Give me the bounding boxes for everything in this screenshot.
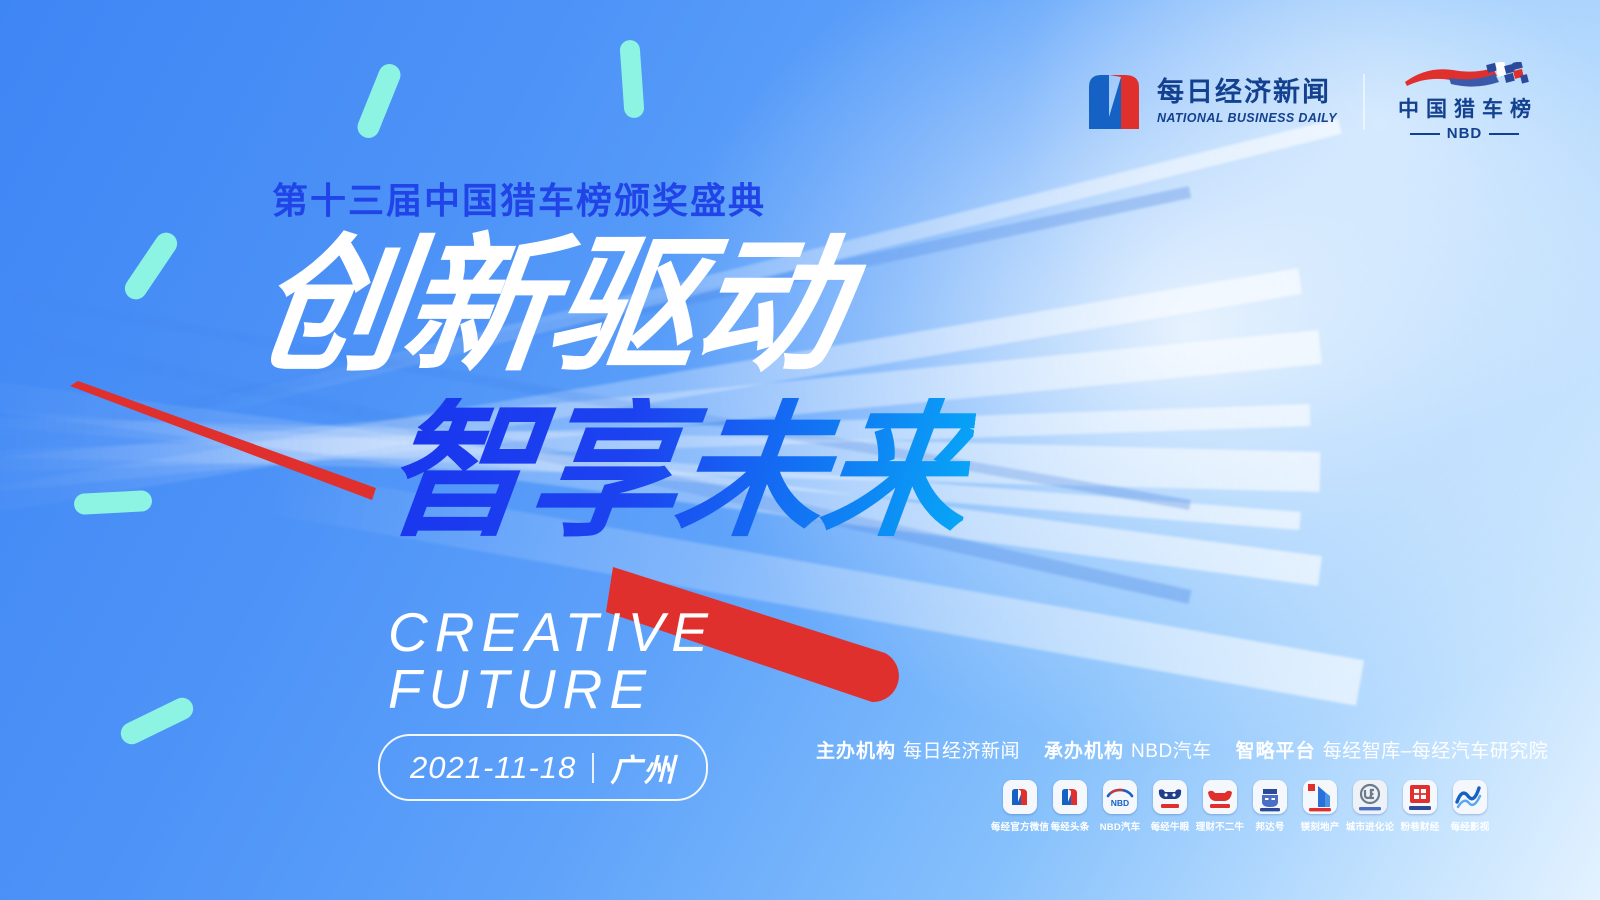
credit-group: 主办机构每日经济新闻 xyxy=(816,736,1020,763)
credit-name: 每经智库–每经汽车研究院 xyxy=(1323,736,1549,763)
nbd-n-mark-icon xyxy=(1085,71,1145,133)
app-label: 每经牛眼 xyxy=(1151,819,1190,833)
app-icon-strip: 每经官方微信每经头条NBDNBD汽车每经牛眼理财不二牛邦达号镁刻地产城市进化论粉… xyxy=(1000,780,1490,833)
building-app-icon xyxy=(1303,780,1337,814)
racing-flag-swoosh-icon xyxy=(1401,62,1529,92)
credit-name: NBD汽车 xyxy=(1131,736,1212,763)
nbd-chinese-name: 每日经济新闻 xyxy=(1157,79,1337,106)
app-entry[interactable]: 城市进化论 xyxy=(1350,780,1390,833)
red-bull-app-icon xyxy=(1203,780,1237,814)
event-city: 广州 xyxy=(610,745,676,790)
rule-left xyxy=(1410,133,1440,135)
lieche-abbr-row: NBD xyxy=(1410,125,1520,142)
english-subtitle-line-2: FUTURE xyxy=(388,661,715,718)
credit-group: 智略平台每经智库–每经汽车研究院 xyxy=(1236,736,1549,763)
nbd-english-name: NATIONAL BUSINESS DAILY xyxy=(1157,112,1337,125)
event-date-badge: 2021-11-18 广州 xyxy=(378,734,708,801)
wave-app-icon xyxy=(1453,780,1487,814)
lieche-chinese-name: 中国猎车榜 xyxy=(1391,93,1538,123)
credit-role: 智略平台 xyxy=(1236,736,1316,763)
logo-divider xyxy=(1363,74,1365,130)
english-subtitle-line-1: CREATIVE xyxy=(388,604,715,661)
app-entry[interactable]: 理财不二牛 xyxy=(1200,780,1240,833)
credit-role: 承办机构 xyxy=(1044,736,1124,763)
badge-separator xyxy=(592,753,594,783)
app-label: 每经官方微信 xyxy=(991,819,1049,833)
app-label: NBD汽车 xyxy=(1100,819,1141,833)
app-label: 镁刻地产 xyxy=(1301,819,1340,833)
lieche-abbr: NBD xyxy=(1447,125,1483,142)
credit-group: 承办机构NBD汽车 xyxy=(1044,736,1212,763)
header-logos: 每日经济新闻 NATIONAL BUSINESS DAILY 中国猎车榜 xyxy=(1085,62,1538,142)
app-label: 每经头条 xyxy=(1051,819,1090,833)
svg-text:NBD: NBD xyxy=(1111,798,1129,808)
bull-head-app-icon xyxy=(1153,780,1187,814)
app-entry[interactable]: 每经官方微信 xyxy=(1000,780,1040,833)
ue-circle-app-icon xyxy=(1353,780,1387,814)
app-entry[interactable]: 每经头条 xyxy=(1050,780,1090,833)
app-entry[interactable]: NBDNBD汽车 xyxy=(1100,780,1140,833)
window-app-icon xyxy=(1403,780,1437,814)
app-label: 城市进化论 xyxy=(1346,819,1395,833)
credit-role: 主办机构 xyxy=(816,736,896,763)
nbd-n-app-icon xyxy=(1053,780,1087,814)
headline-line-1: 创新驱动 xyxy=(249,233,851,381)
nbd-logo[interactable]: 每日经济新闻 NATIONAL BUSINESS DAILY xyxy=(1085,71,1337,133)
app-entry[interactable]: 粉巷财经 xyxy=(1400,780,1440,833)
headline-line-2: 智享未来 xyxy=(376,398,978,546)
app-entry[interactable]: 镁刻地产 xyxy=(1300,780,1340,833)
event-date: 2021-11-18 xyxy=(410,750,576,786)
rule-right xyxy=(1489,133,1519,135)
app-label: 理财不二牛 xyxy=(1196,819,1245,833)
nbd-n-app-icon xyxy=(1003,780,1037,814)
app-entry[interactable]: 邦达号 xyxy=(1250,780,1290,833)
app-entry[interactable]: 每经影视 xyxy=(1450,780,1490,833)
event-eyebrow-title: 第十三届中国猎车榜颁奖盛典 xyxy=(272,172,766,224)
app-label: 粉巷财经 xyxy=(1401,819,1440,833)
app-label: 邦达号 xyxy=(1255,819,1284,833)
event-poster: 每日经济新闻 NATIONAL BUSINESS DAILY 中国猎车榜 xyxy=(0,0,1600,900)
credits-row: 主办机构每日经济新闻承办机构NBD汽车智略平台每经智库–每经汽车研究院 xyxy=(816,736,1562,763)
app-entry[interactable]: 每经牛眼 xyxy=(1150,780,1190,833)
china-lieche-logo[interactable]: 中国猎车榜 NBD xyxy=(1391,62,1538,142)
face-app-icon xyxy=(1253,780,1287,814)
nbd-car-app-icon: NBD xyxy=(1103,780,1137,814)
english-subtitle: CREATIVE FUTURE xyxy=(388,604,715,718)
credit-name: 每日经济新闻 xyxy=(903,736,1020,763)
app-label: 每经影视 xyxy=(1451,819,1490,833)
